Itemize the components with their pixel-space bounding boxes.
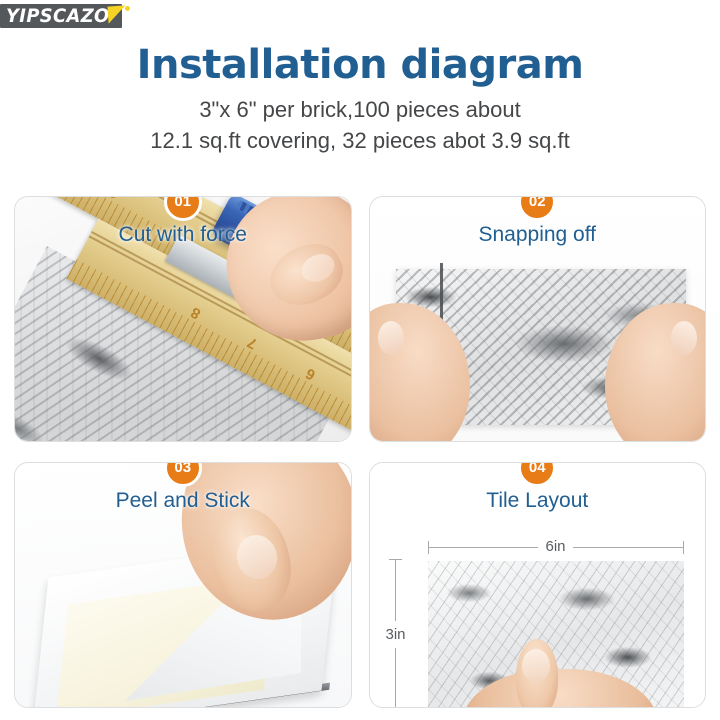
step-card-03[interactable]: Peel and Stick 03: [14, 462, 352, 708]
ruler-mark: 6: [303, 364, 318, 383]
width-dimension-label: 6in: [538, 538, 572, 555]
fingernail-graphic: [522, 649, 550, 683]
width-dimension: 6in: [428, 539, 684, 555]
step-02-label: Snapping off: [370, 223, 706, 247]
dimension-line-bottom: [395, 648, 396, 708]
page-subtitle: 3"x 6" per brick,100 pieces about 12.1 s…: [0, 94, 720, 156]
ruler-mark: 7: [245, 333, 260, 352]
subtitle-line-1: 3"x 6" per brick,100 pieces about: [0, 94, 720, 125]
left-fingernail-graphic: [378, 321, 404, 355]
dimension-cap-right: [683, 541, 684, 554]
dimension-line-left: [429, 547, 539, 548]
step-card-01[interactable]: 12 11 10 8 7 6 5 Cut with force: [14, 196, 352, 442]
logo-wordmark: YIPSCAZO: [6, 4, 119, 28]
right-fingernail-graphic: [671, 321, 697, 355]
height-dimension: 3in: [376, 559, 416, 707]
step-03-label: Peel and Stick: [15, 489, 351, 513]
swoosh-icon: [107, 5, 126, 23]
installation-steps-grid: 12 11 10 8 7 6 5 Cut with force: [14, 196, 706, 708]
step-01-label: Cut with force: [15, 223, 351, 247]
brand-logo: YIPSCAZO: [0, 4, 136, 30]
logo-dot-icon: [125, 6, 130, 11]
page-title: Installation diagram: [0, 42, 720, 88]
subtitle-line-2: 12.1 sq.ft covering, 32 pieces abot 3.9 …: [0, 125, 720, 156]
step-04-label: Tile Layout: [370, 489, 706, 513]
page-header: Installation diagram 3"x 6" per brick,10…: [0, 42, 720, 156]
dimension-line-right: [573, 547, 683, 548]
ruler-mark: 8: [188, 303, 203, 322]
dimension-line-top: [395, 560, 396, 621]
step-card-04[interactable]: 6in 3in Tile Layout 04: [369, 462, 707, 708]
step-card-02[interactable]: Snapping off 02: [369, 196, 707, 442]
height-dimension-label: 3in: [385, 621, 405, 648]
